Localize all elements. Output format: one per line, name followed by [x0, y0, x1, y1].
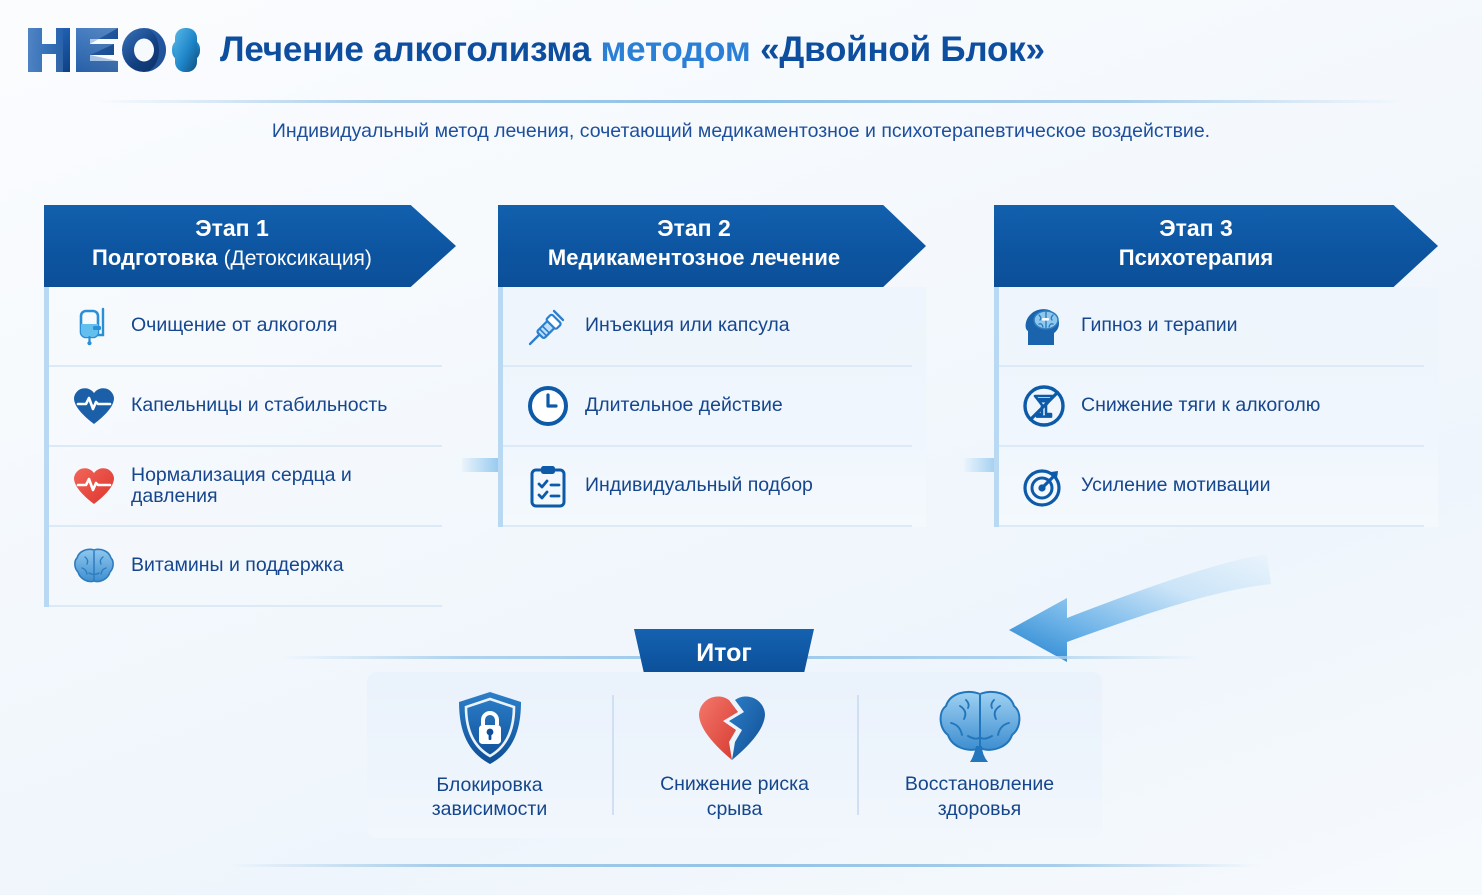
stage-2-item-3[interactable]: Индивидуальный подбор: [503, 447, 912, 527]
result-panel: Блокировка зависимости Сн: [367, 672, 1102, 838]
title-part-2: методом: [600, 30, 750, 69]
stage-1-item-3[interactable]: Нормализация сердца и давления: [49, 447, 442, 527]
stage-1-item-1-label: Очищение от алкоголя: [131, 315, 337, 336]
brain-icon: [71, 543, 117, 589]
stage-3-item-3-label: Усиление мотивации: [1081, 475, 1270, 496]
stage-card-1: Этап 1 Подготовка (Детоксикация): [44, 205, 456, 607]
stage-3-body: Гипноз и терапии Снижение тяги к алкогол…: [994, 287, 1438, 527]
stage-2-body: Инъекция или капсула Длительное действие: [498, 287, 926, 527]
stage-1-item-2-label: Капельницы и стабильность: [131, 395, 387, 416]
result-item-2-label: Снижение риска срыва: [660, 772, 809, 821]
stage-1-item-1[interactable]: Очищение от алкоголя: [49, 287, 442, 367]
clipboard-check-icon: [525, 463, 571, 509]
stage-3-number: Этап 3: [994, 213, 1398, 243]
iv-drip-icon: [71, 303, 117, 349]
shield-lock-icon: [454, 689, 526, 767]
stage-2-item-1-label: Инъекция или капсула: [585, 315, 790, 336]
stage-3-item-1-label: Гипноз и терапии: [1081, 315, 1238, 336]
stage-1-name-thin: (Детоксикация): [224, 247, 372, 270]
result-badge: Итог: [634, 629, 814, 677]
heart-pulse-dark-icon: [71, 383, 117, 429]
result-item-3[interactable]: Восстановление здоровья: [857, 689, 1102, 821]
stage-3-item-2[interactable]: Снижение тяги к алкоголю: [999, 367, 1424, 447]
target-arrow-icon: [1021, 463, 1067, 509]
page-title: Лечение алкоголизма методом «Двойной Бло…: [220, 30, 1045, 70]
stage-2-name-bold: Медикаментозное лечение: [548, 245, 840, 270]
stage-2-number: Этап 2: [498, 213, 890, 243]
result-item-1-label: Блокировка зависимости: [432, 773, 548, 822]
no-alcohol-icon: [1021, 383, 1067, 429]
heart-pulse-red-icon: [71, 463, 117, 509]
page-header: Лечение алкоголизма методом «Двойной Бло…: [0, 0, 1482, 100]
clock-icon: [525, 383, 571, 429]
stage-1-name: Подготовка (Детоксикация): [44, 243, 420, 274]
broken-heart-icon: [696, 689, 774, 766]
stage-1-body: Очищение от алкоголя Капельницы и стабил…: [44, 287, 456, 607]
stage-2-item-3-label: Индивидуальный подбор: [585, 475, 813, 496]
title-part-1: Лечение алкоголизма: [220, 30, 591, 69]
stage-1-item-2[interactable]: Капельницы и стабильность: [49, 367, 442, 447]
stage-2-header: Этап 2 Медикаментозное лечение: [498, 205, 926, 287]
head-brain-icon: [1021, 303, 1067, 349]
page-subtitle: Индивидуальный метод лечения, сочетающий…: [0, 120, 1482, 143]
stage-1-number: Этап 1: [44, 213, 420, 243]
brain-large-icon: [936, 689, 1024, 766]
stage-1-item-4[interactable]: Витамины и поддержка: [49, 527, 442, 607]
stage-3-item-1[interactable]: Гипноз и терапии: [999, 287, 1424, 367]
stage-2-item-2-label: Длительное действие: [585, 395, 783, 416]
stages-container: Этап 1 Подготовка (Детоксикация): [44, 205, 1438, 555]
stage-1-header: Этап 1 Подготовка (Детоксикация): [44, 205, 456, 287]
stage-2-item-1[interactable]: Инъекция или капсула: [503, 287, 912, 367]
stage-2-item-2[interactable]: Длительное действие: [503, 367, 912, 447]
stage-card-3: Этап 3 Психотерапия Гипноз и терапии: [994, 205, 1438, 527]
stage-card-2: Этап 2 Медикаментозное лечение: [498, 205, 926, 527]
result-item-1[interactable]: Блокировка зависимости: [367, 689, 612, 821]
result-item-3-label: Восстановление здоровья: [905, 772, 1054, 821]
stage-1-name-bold: Подготовка: [92, 245, 217, 270]
stage-1-item-4-label: Витамины и поддержка: [131, 555, 344, 576]
syringe-icon: [525, 303, 571, 349]
arrow-stage3-to-result: [975, 548, 1275, 673]
footer-divider: [230, 864, 1260, 867]
stage-1-item-3-label: Нормализация сердца и давления: [131, 465, 442, 508]
result-item-2[interactable]: Снижение риска срыва: [612, 689, 857, 821]
stage-3-item-3[interactable]: Усиление мотивации: [999, 447, 1424, 527]
header-divider: [95, 100, 1405, 103]
stage-3-header: Этап 3 Психотерапия: [994, 205, 1438, 287]
stage-3-name-bold: Психотерапия: [1119, 245, 1273, 270]
stage-3-name: Психотерапия: [994, 243, 1398, 273]
stage-3-item-2-label: Снижение тяги к алкоголю: [1081, 395, 1320, 416]
title-part-3: «Двойной Блок»: [760, 30, 1045, 69]
stage-2-name: Медикаментозное лечение: [498, 243, 890, 273]
neo-plus-logo: [26, 22, 202, 78]
